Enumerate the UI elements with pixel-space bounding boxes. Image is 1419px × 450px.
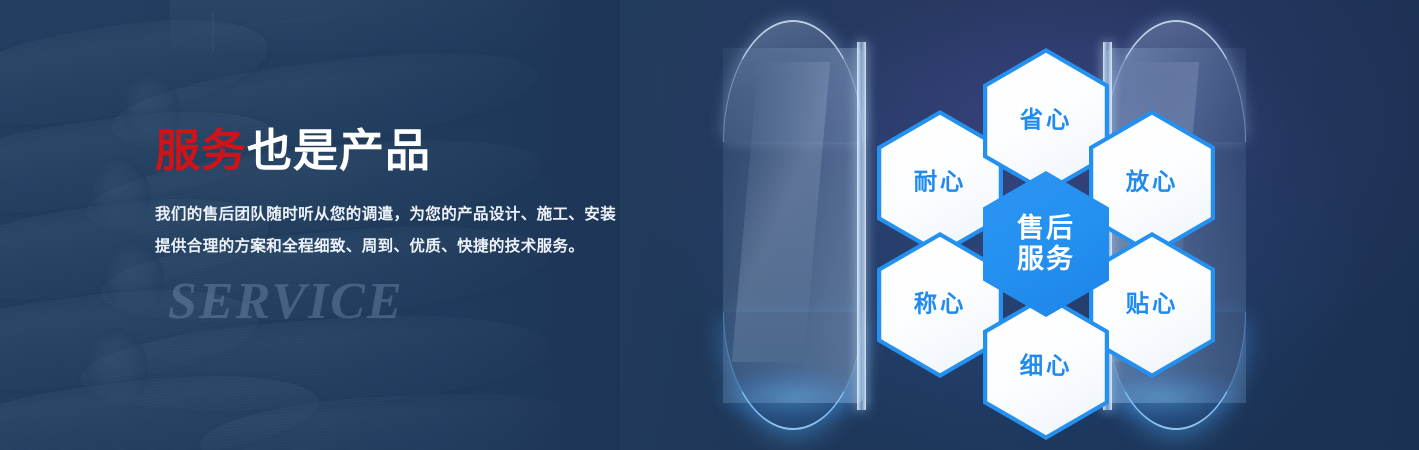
hexagon-diagram: 耐心 省心 放心 称心 贴心 细心 [872,46,1220,406]
glass-edge-spine [857,42,866,410]
hex-label: 耐心 [914,170,966,196]
page-title: 服务也是产品 [155,128,755,173]
hex-center-line-2: 服务 [1017,244,1075,274]
headline-rest: 也是产品 [247,125,431,176]
subcopy-line-2: 提供合理的方案和全程细致、周到、优质、快捷的技术服务。 [155,231,755,263]
hex-inner: 贴心 [1093,237,1211,374]
copy-block: 服务也是产品 我们的售后团队随时听从您的调遣，为您的产品设计、施工、安装 提供合… [155,128,755,263]
glass-base-glow [713,368,875,426]
hex-label: 放心 [1126,170,1178,196]
hex-inner: 放心 [1093,115,1211,252]
hex-inner: 耐心 [881,115,999,252]
subcopy-line-1: 我们的售后团队随时听从您的调遣，为您的产品设计、施工、安装 [155,199,755,231]
glass-bottom-ellipse [723,312,863,430]
hex-inner: 称心 [881,237,999,374]
headline-accent: 服务 [155,125,247,176]
hex-label: 省心 [1020,108,1072,134]
hex-center-line-1: 售后 [1017,213,1075,243]
subcopy: 我们的售后团队随时听从您的调遣，为您的产品设计、施工、安装 提供合理的方案和全程… [155,199,755,263]
watermark-text: SERVICE [168,272,404,331]
hex-inner: 细心 [987,299,1105,436]
glass-top-ellipse [723,20,863,142]
hex-label: 贴心 [1126,292,1178,318]
hex-label: 称心 [914,292,966,318]
hex-center-label: 售后服务 [1017,213,1075,275]
service-banner: 服务也是产品 我们的售后团队随时听从您的调遣，为您的产品设计、施工、安装 提供合… [0,0,1419,450]
hex-inner: 省心 [987,53,1105,190]
hex-label: 细心 [1020,354,1072,380]
